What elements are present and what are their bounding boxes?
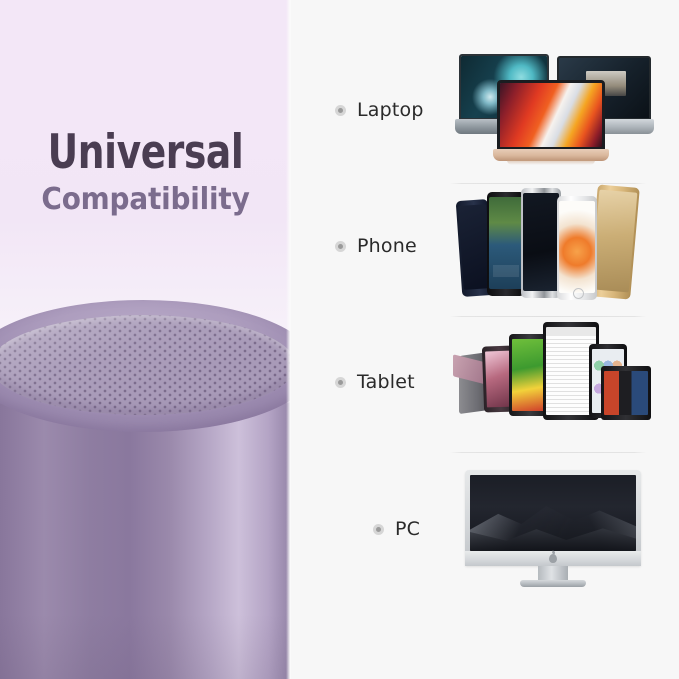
product-infographic: Universal Compatibility ANSMY Laptop	[0, 0, 679, 679]
compatibility-item-pc: PC	[373, 518, 420, 540]
phone-screen	[489, 197, 523, 289]
left-hero-panel: Universal Compatibility ANSMY	[0, 0, 291, 679]
compatibility-label: Laptop	[357, 99, 424, 121]
laptop-screen	[497, 80, 605, 150]
bullet-icon	[335, 105, 346, 116]
compatibility-label: Phone	[357, 235, 417, 257]
speaker-body-shading	[0, 614, 291, 679]
speaker-top-rim	[0, 300, 291, 432]
rose-gold-macbook	[493, 80, 609, 180]
laptop-device-group-image	[451, 42, 657, 178]
list-item: PC	[291, 454, 679, 604]
black-android-phone	[487, 192, 525, 296]
list-item: Laptop	[291, 42, 679, 178]
silver-galaxy-phone	[521, 188, 561, 298]
headline-block: Universal Compatibility	[0, 128, 291, 220]
phone-device-group-image	[451, 178, 657, 314]
imac-screen	[470, 475, 636, 551]
list-item: Phone	[291, 178, 679, 314]
pc-device-group-image	[451, 454, 657, 604]
home-button-icon	[573, 288, 584, 299]
android-dock	[493, 265, 519, 277]
kindle-fire-tablet	[601, 366, 651, 420]
compatibility-list-panel: Laptop	[291, 0, 679, 679]
compatibility-item-tablet: Tablet	[335, 371, 415, 393]
bluetooth-speaker-product-image: ANSMY	[0, 300, 291, 679]
row-divider	[450, 452, 646, 453]
phone-screen	[523, 193, 559, 291]
silver-imac-desktop	[465, 470, 641, 588]
laptop-front-edge	[507, 160, 595, 165]
imac-bezel	[465, 470, 641, 566]
bullet-icon	[335, 377, 346, 388]
compatibility-item-laptop: Laptop	[335, 99, 424, 121]
tablet-screen	[604, 371, 648, 415]
white-iphone	[557, 196, 597, 300]
page-title: Universal	[29, 128, 262, 178]
phone-screen	[591, 190, 638, 293]
compatibility-label: PC	[395, 518, 420, 540]
imac-chin	[465, 551, 641, 566]
list-item: Tablet	[291, 314, 679, 450]
page-subtitle: Compatibility	[10, 180, 281, 220]
bullet-icon	[335, 241, 346, 252]
apple-logo-icon	[549, 554, 557, 563]
compatibility-label: Tablet	[357, 371, 415, 393]
speaker-mesh-grille	[0, 315, 291, 415]
tablet-device-group-image	[451, 314, 657, 450]
bullet-icon	[373, 524, 384, 535]
imac-stand-foot	[520, 580, 586, 587]
big-sur-wallpaper	[500, 83, 602, 147]
phone-screen	[559, 201, 595, 293]
compatibility-item-phone: Phone	[335, 235, 417, 257]
